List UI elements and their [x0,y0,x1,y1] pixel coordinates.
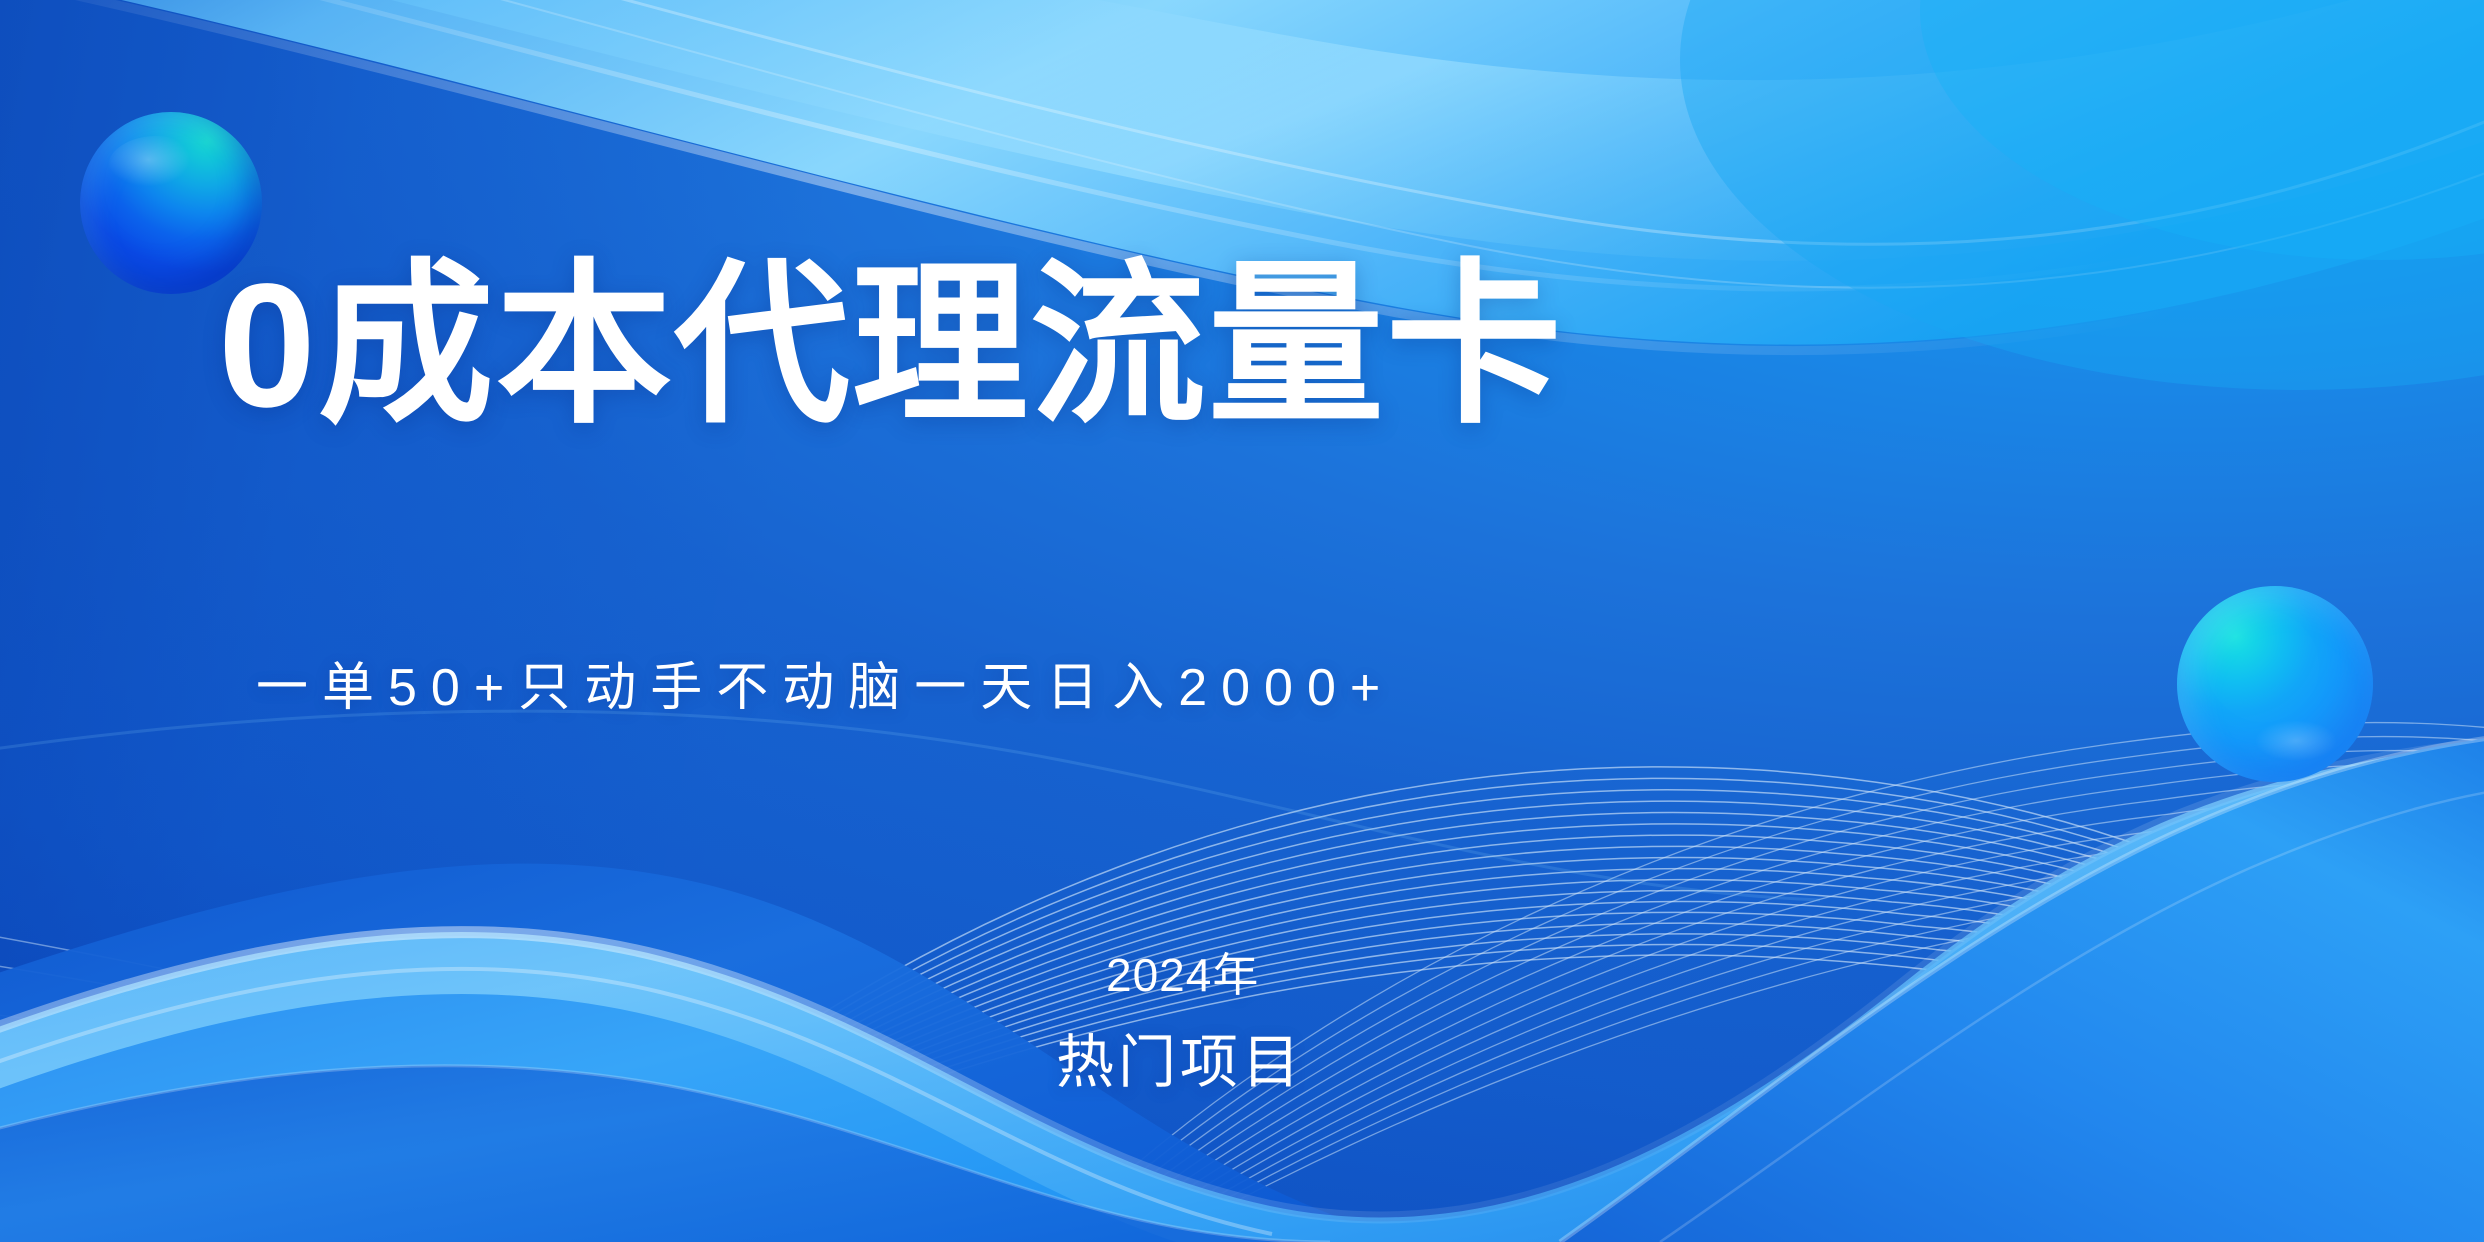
poster-subheadline: 一单50+只动手不动脑一天日入2000+ [256,662,1394,714]
gradient-sphere-right-icon [2177,586,2373,782]
promo-poster: 0成本代理流量卡 一单50+只动手不动脑一天日入2000+ 2024年 热门项目 [0,0,2484,1242]
line-field-left-icon [0,930,1070,1242]
poster-badge: 2024年 热门项目 [1106,952,1304,1092]
sphere-left-highlight-icon [108,136,204,198]
badge-topic-label: 热门项目 [1056,1034,1304,1092]
sphere-right-highlight-icon [2250,720,2342,766]
poster-headline: 0成本代理流量卡 [218,258,1564,434]
badge-year-label: 2024年 [1106,952,1304,998]
top-right-glow-icon [1680,0,2484,390]
line-mesh-icon [520,767,2484,1242]
mid-wave-icon [0,711,1820,900]
